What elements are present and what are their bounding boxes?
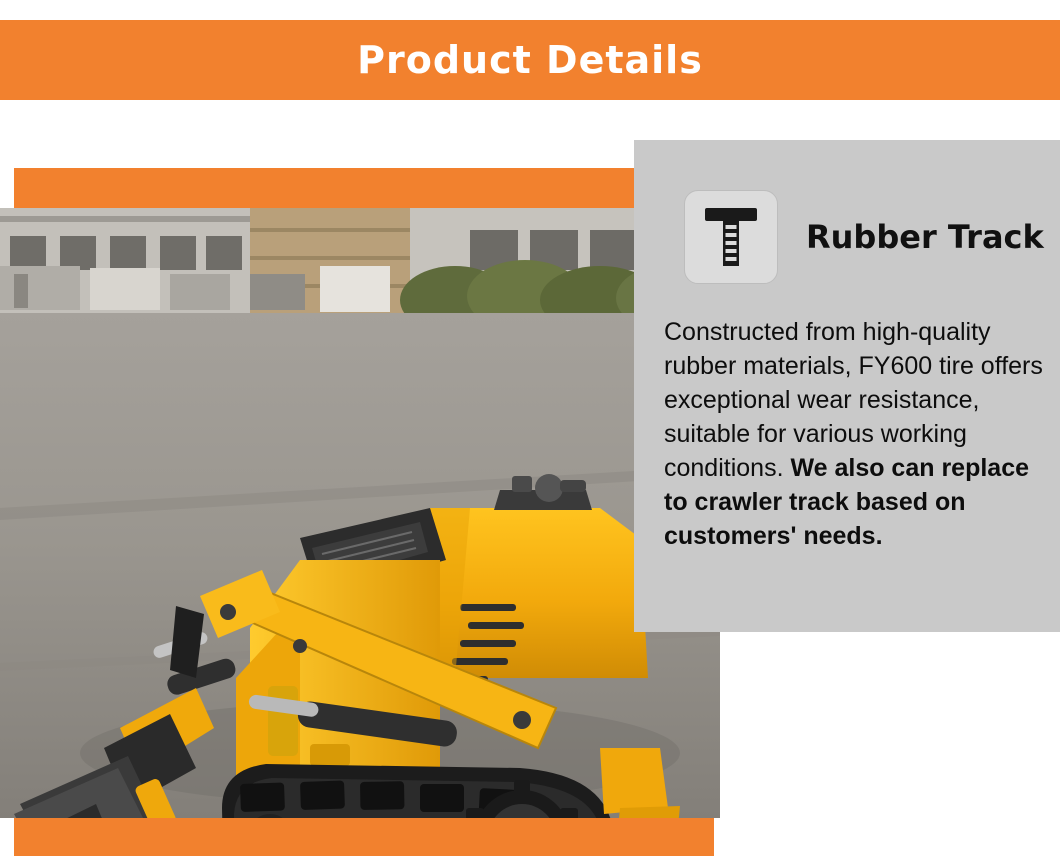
rubber-track-glyph (703, 206, 759, 268)
info-panel-body: Constructed from high-quality rubber mat… (664, 315, 1050, 553)
product-photo (0, 208, 720, 818)
info-panel: Rubber Track Constructed from high-quali… (634, 140, 1060, 632)
info-panel-header: Rubber Track (684, 190, 1044, 284)
info-panel-title: Rubber Track (806, 218, 1044, 256)
bottom-accent-bar (14, 818, 714, 856)
rubber-track-icon (684, 190, 778, 284)
product-photo-illustration (0, 208, 720, 818)
page-title: Product Details (0, 20, 1060, 100)
secondary-accent-bar (14, 168, 634, 208)
